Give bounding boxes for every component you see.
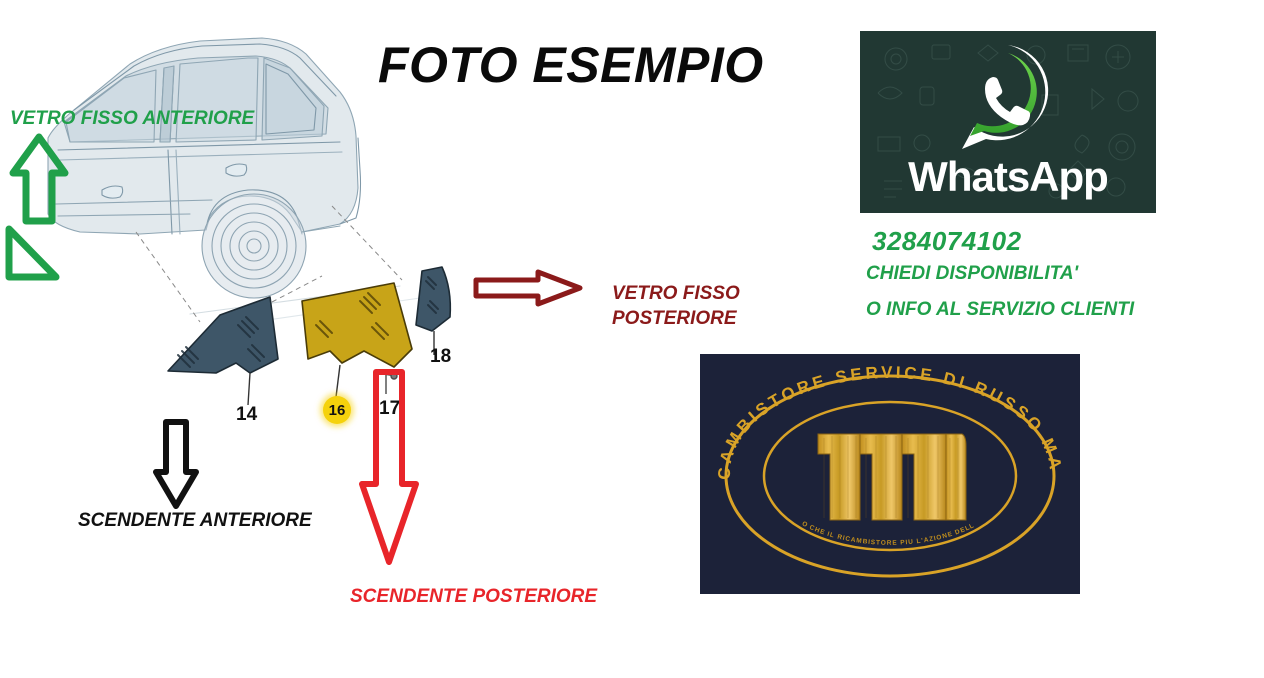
page-title: FOTO ESEMPIO [378,36,764,94]
label-scendente-anteriore: SCENDENTE ANTERIORE [78,510,312,532]
arrow-down-black-icon [152,418,200,510]
whatsapp-phone-number[interactable]: 3284074102 [872,226,1022,257]
whatsapp-availability-line2: O INFO AL SERVIZIO CLIENTI [866,299,1134,321]
label-vetro-fisso-anteriore: VETRO FISSO ANTERIORE [10,108,254,130]
whatsapp-logo-banner: WhatsApp [860,31,1156,213]
screenshot-root: 14 16 17 18 FOTO ESEMPIO VETRO FISSO ANT… [0,0,1264,678]
glass-part-16 [302,283,412,367]
company-logo-banner: MRICAMBISTORE SERVICE DI RUSSO MARCO IL … [700,354,1080,594]
arrow-down-red-icon [358,368,420,568]
label-vetro-fisso-posteriore-line1: VETRO FISSO [612,281,740,306]
whatsapp-icon [948,39,1068,159]
part-number-18: 18 [430,346,451,368]
company-logo-graphic: MRICAMBISTORE SERVICE DI RUSSO MARCO IL … [700,354,1080,594]
label-vetro-fisso-posteriore-line2: POSTERIORE [612,306,740,331]
part-number-badge-16: 16 [323,396,351,424]
part-number-16-label: 16 [329,402,346,419]
whatsapp-wordmark: WhatsApp [860,153,1156,201]
arrow-green-triangle-icon [4,224,60,282]
whatsapp-availability-line1: CHIEDI DISPONIBILITA' [866,263,1078,285]
glass-part-14 [168,297,278,373]
label-vetro-fisso-posteriore: VETRO FISSO POSTERIORE [612,281,740,331]
arrow-up-green-icon [8,133,70,228]
glass-part-18 [416,267,450,331]
arrow-right-darkred-icon [472,268,584,308]
part-number-14: 14 [236,404,257,426]
glass-parts-group [150,255,470,415]
label-scendente-posteriore: SCENDENTE POSTERIORE [350,586,597,608]
